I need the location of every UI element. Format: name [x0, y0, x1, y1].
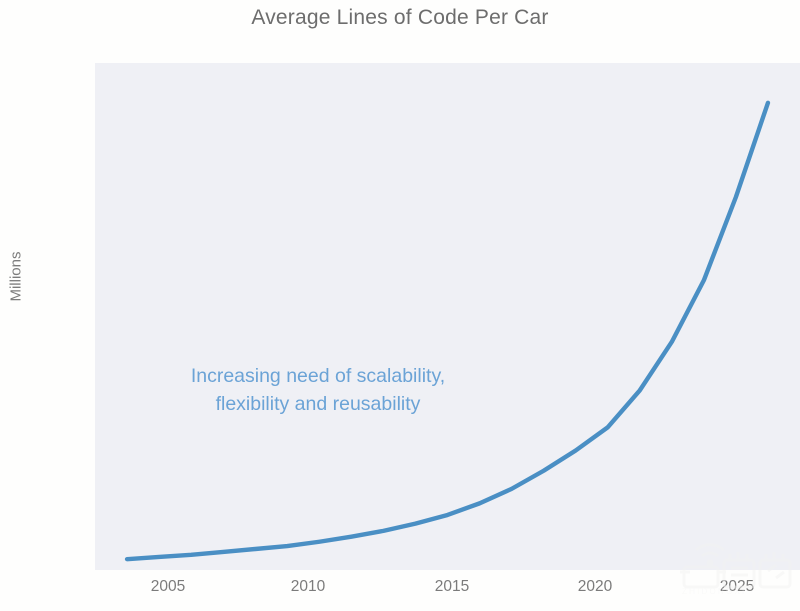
scalability-annotation: Increasing need of scalability, flexibil… — [153, 363, 483, 418]
annotation-line-1: Increasing need of scalability, — [191, 365, 445, 387]
plot-svg — [95, 63, 800, 570]
x-tick-2010: 2010 — [268, 578, 348, 596]
chart-title: Average Lines of Code Per Car — [0, 6, 800, 30]
data-series-line — [127, 103, 768, 559]
y-axis-label: Millions — [8, 237, 25, 317]
x-tick-2005: 2005 — [128, 578, 208, 596]
x-tick-2020: 2020 — [555, 578, 635, 596]
annotation-line-2: flexibility and reusability — [153, 391, 483, 419]
x-tick-2015: 2015 — [412, 578, 492, 596]
x-tick-2025: 2025 — [697, 578, 777, 596]
plot-area: Increasing need of scalability, flexibil… — [95, 63, 800, 570]
chart-container: Average Lines of Code Per Car Millions 7… — [0, 0, 800, 611]
